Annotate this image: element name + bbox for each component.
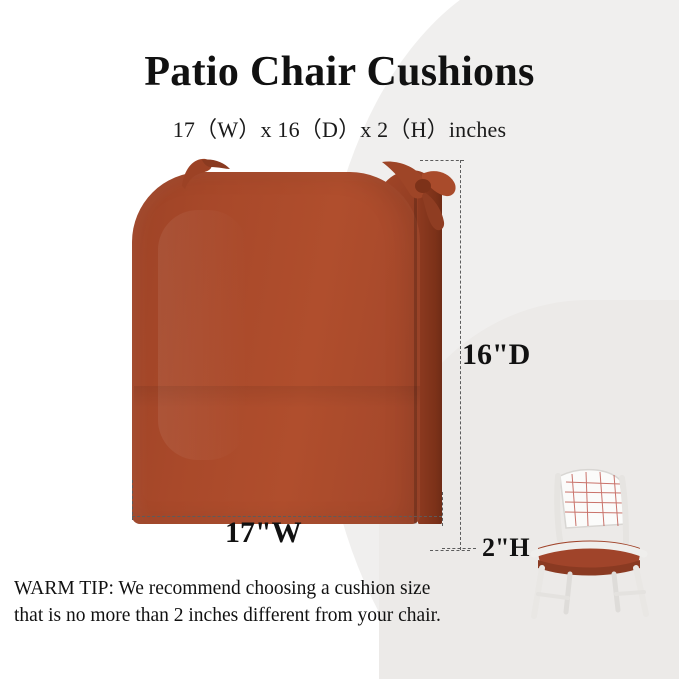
dimension-tick-depth-bottom <box>430 550 470 551</box>
cushion-image <box>118 150 478 550</box>
warm-tip-line-1: WARM TIP: We recommend choosing a cushio… <box>14 575 514 602</box>
cushion-highlight <box>158 210 248 460</box>
dimension-tick-left <box>132 480 133 520</box>
page-subtitle: 17（W）x 16（D）x 2（H）inches <box>0 112 679 144</box>
warm-tip: WARM TIP: We recommend choosing a cushio… <box>14 575 514 629</box>
cushion-tie-right-icon <box>376 156 466 246</box>
dimension-tick-width-right <box>442 492 443 526</box>
page-title: Patio Chair Cushions <box>0 48 679 96</box>
dimension-label-width: 17"W <box>225 516 302 550</box>
dimension-label-height: 2"H <box>482 533 530 563</box>
cushion-fold-shadow <box>134 386 420 408</box>
product-infographic: Patio Chair Cushions 17（W）x 16（D）x 2（H）i… <box>0 0 679 679</box>
chair-inset-image <box>508 462 668 624</box>
dimension-line-height <box>442 548 476 549</box>
dimension-tick-depth-top <box>420 160 464 161</box>
warm-tip-line-2: that is no more than 2 inches different … <box>14 602 514 629</box>
dimension-label-depth: 16"D <box>462 338 530 372</box>
cushion-tie-left-icon <box>178 156 232 190</box>
dimension-line-depth <box>460 160 461 550</box>
